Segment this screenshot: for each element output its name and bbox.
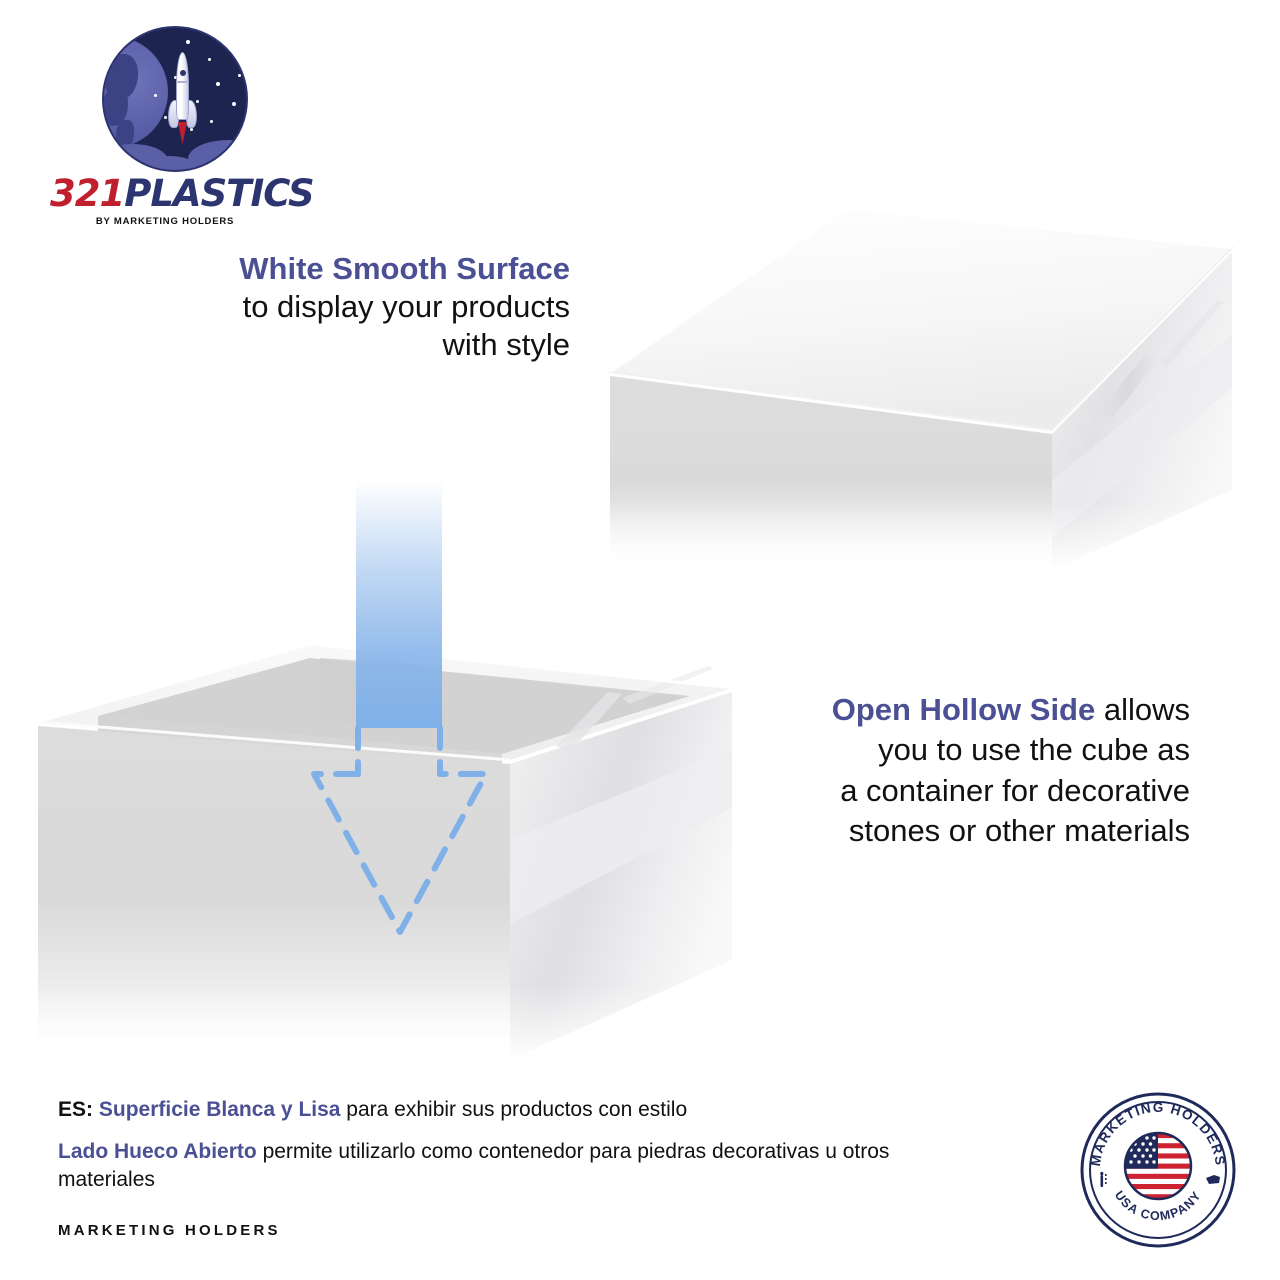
- callout-surface-heading: White Smooth Surface: [120, 250, 570, 288]
- logo-word: PLASTICS: [124, 172, 313, 215]
- product-cube-solid-top: [600, 150, 1280, 570]
- spanish-lang-tag: ES:: [58, 1098, 93, 1121]
- spanish-line1-highlight: Superficie Blanca y Lisa: [99, 1098, 341, 1121]
- logo-wordmark: 321PLASTICS BY MARKETING HOLDERS: [50, 172, 280, 227]
- callout-hollow-line1-rest: allows: [1095, 692, 1190, 727]
- spanish-line1-rest: para exhibir sus productos con estilo: [340, 1098, 687, 1121]
- callout-surface-line2: to display your products: [120, 288, 570, 326]
- callout-hollow-line4: stones or other materials: [700, 811, 1190, 851]
- callout-hollow-line2: you to use the cube as: [700, 730, 1190, 770]
- seal-rocket-icon: [1100, 1172, 1106, 1187]
- spanish-line-2: Lado Hueco Abierto permite utilizarlo co…: [58, 1138, 918, 1193]
- spanish-translation-block: ES: Superficie Blanca y Lisa para exhibi…: [58, 1096, 918, 1194]
- spanish-line2-highlight: Lado Hueco Abierto: [58, 1140, 257, 1163]
- logo-number: 321: [50, 172, 124, 215]
- callout-hollow-line3: a container for decorative: [700, 771, 1190, 811]
- dashed-down-arrow-icon: [300, 480, 520, 950]
- callout-hollow-heading: Open Hollow Side: [832, 692, 1096, 727]
- brand-logo: 321PLASTICS BY MARKETING HOLDERS: [50, 24, 280, 209]
- callout-open-hollow-side: Open Hollow Side allows you to use the c…: [700, 690, 1190, 851]
- callout-hollow-line1: Open Hollow Side allows: [700, 690, 1190, 730]
- usa-map-icon: [1206, 1175, 1220, 1184]
- usa-company-seal-badge: MARKETING HOLDERS USA COMPANY: [1078, 1090, 1238, 1250]
- footer-brand-name: MARKETING HOLDERS: [58, 1222, 281, 1239]
- callout-white-smooth-surface: White Smooth Surface to display your pro…: [120, 250, 570, 363]
- callout-surface-line3: with style: [120, 326, 570, 364]
- logo-subtitle: BY MARKETING HOLDERS: [50, 216, 280, 227]
- rocket-earth-emblem-icon: [102, 26, 248, 172]
- cloud-icon: [104, 132, 246, 172]
- spanish-line-1: ES: Superficie Blanca y Lisa para exhibi…: [58, 1096, 918, 1124]
